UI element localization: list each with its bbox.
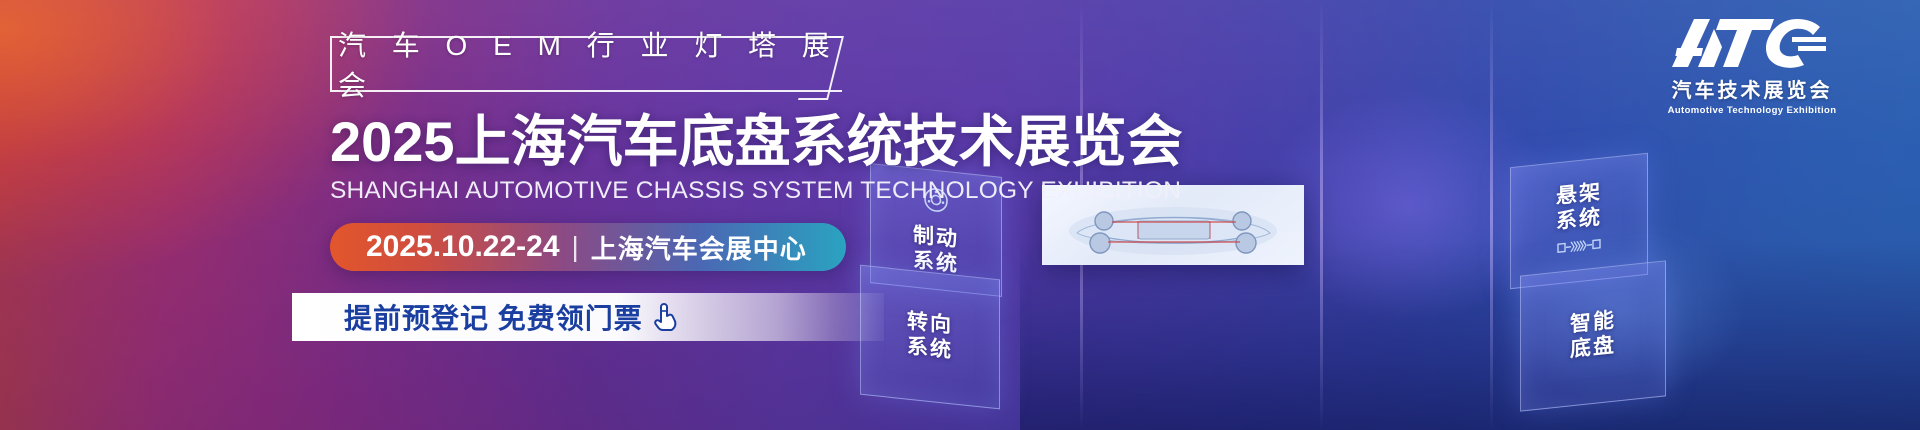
tagline-text: 汽 车 O E M 行 业 灯 塔 展 会	[330, 36, 842, 92]
atc-logo: 汽车技术展览会 Automotive Technology Exhibition	[1662, 14, 1842, 116]
date-venue-pill: 2025.10.22-24 | 上海汽车会展中心	[330, 223, 846, 271]
page-title: 2025上海汽车底盘系统技术展览会	[330, 112, 1030, 171]
light-beam	[1320, 0, 1323, 430]
cta-content[interactable]: 提前预登记 免费领门票	[344, 297, 681, 337]
cta-label: 提前预登记 免费领门票	[344, 297, 643, 337]
card-label-line2: 底盘	[1570, 334, 1616, 364]
banner-content: 汽 车 O E M 行 业 灯 塔 展 会 2025上海汽车底盘系统技术展览会 …	[330, 0, 1030, 430]
page-subtitle: SHANGHAI AUTOMOTIVE CHASSIS SYSTEM TECHN…	[330, 177, 1030, 205]
logo-name-en: Automotive Technology Exhibition	[1662, 105, 1842, 116]
light-beam	[1490, 0, 1493, 430]
suspension-icon	[1557, 236, 1601, 262]
pointing-hand-icon	[653, 301, 681, 338]
tagline-badge: 汽 车 O E M 行 业 灯 塔 展 会	[330, 36, 842, 92]
pill-separator: |	[572, 231, 579, 263]
event-venue: 上海汽车会展中心	[591, 229, 807, 266]
event-date: 2025.10.22-24	[366, 230, 560, 264]
card-smart-chassis[interactable]: 智能 底盘	[1520, 260, 1666, 411]
card-label-line2: 系统	[1556, 205, 1602, 235]
atc-mark-icon	[1662, 14, 1842, 72]
logo-name-cn: 汽车技术展览会	[1662, 74, 1842, 103]
register-cta-bar[interactable]: 提前预登记 免费领门票	[292, 293, 884, 341]
event-banner: 制动 系统 转向 系统 悬架 系统 智能 底盘	[0, 0, 1920, 430]
